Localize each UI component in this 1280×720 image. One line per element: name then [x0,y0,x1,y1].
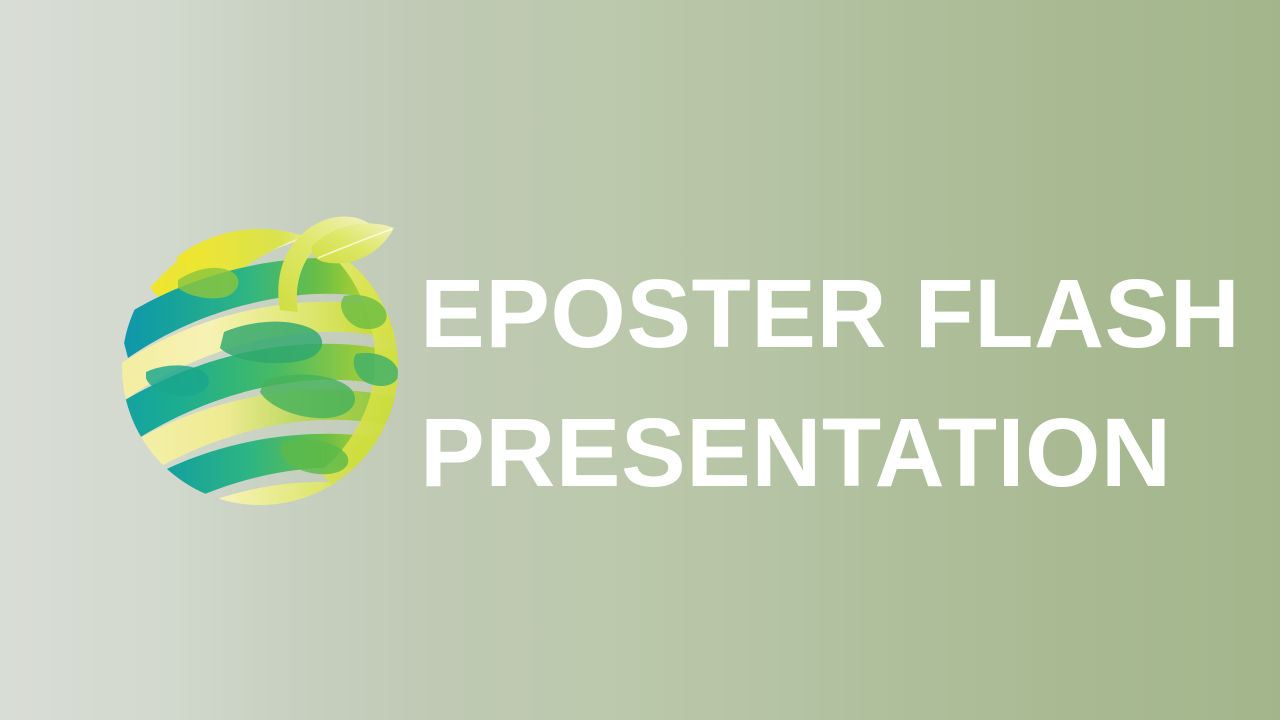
title-line-2: PRESENTATION [420,383,1220,522]
title-line-1: EPOSTER FLASH [420,244,1220,383]
slide-canvas: EPOSTER FLASH PRESENTATION [0,0,1280,720]
page-title: EPOSTER FLASH PRESENTATION [420,244,1220,522]
globe-ribbon-leaf-logo [112,202,412,512]
